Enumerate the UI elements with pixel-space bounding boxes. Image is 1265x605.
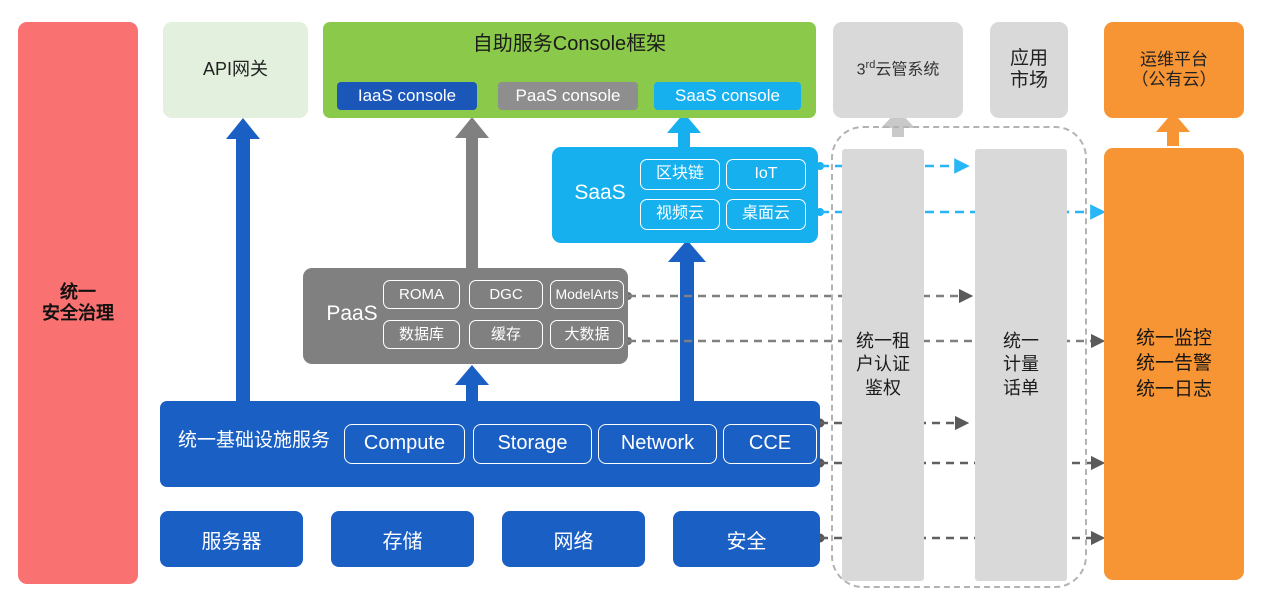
paas-console-label: PaaS console [516,86,621,106]
infra-chip-network-label: Network [621,432,694,456]
hardware-box-storage[interactable]: 存储 [331,511,474,567]
ops-platform-public-cloud-box[interactable]: 运维平台 （公有云） [1104,22,1244,118]
unified-monitoring-alarm-log-label: 统一监控 统一告警 统一日志 [1136,326,1212,401]
arrow-paas-to-console [455,117,489,268]
hardware-box-security[interactable]: 安全 [673,511,820,567]
unified-infrastructure-service-label: 统一基础设施服务 [178,430,330,452]
unified-infrastructure-service-bar[interactable]: 统一基础设施服务 Compute Storage Network CCE [160,401,820,487]
infra-chip-storage-label: Storage [497,432,567,456]
saas-chip-blockchain-label: 区块链 [656,165,704,184]
application-market-label: 应用 市场 [1010,48,1048,93]
paas-chip-modelarts[interactable]: ModelArts [550,280,624,309]
hardware-box-network-label: 网络 [554,525,594,554]
paas-console-chip[interactable]: PaaS console [498,82,638,110]
unified-security-governance-panel[interactable]: 统一 安全治理 [18,22,138,584]
infra-chip-compute[interactable]: Compute [344,424,465,464]
api-gateway-box[interactable]: API网关 [163,22,308,118]
iaas-console-chip[interactable]: IaaS console [337,82,477,110]
paas-chip-cache[interactable]: 缓存 [469,320,543,349]
saas-console-chip[interactable]: SaaS console [654,82,801,110]
self-service-console-framework[interactable]: 自助服务Console框架 IaaS console PaaS console … [323,22,816,118]
infra-chip-compute-label: Compute [364,432,445,456]
paas-chip-database-label: 数据库 [399,326,444,344]
third-party-suffix: 云管系统 [875,62,939,79]
application-market-box[interactable]: 应用 市场 [990,22,1068,118]
infra-chip-storage[interactable]: Storage [473,424,592,464]
saas-console-label: SaaS console [675,86,780,106]
hardware-box-network[interactable]: 网络 [502,511,645,567]
saas-layer-label: SaaS [564,181,636,206]
iaas-console-label: IaaS console [358,86,456,106]
paas-chip-roma-label: ROMA [399,286,444,304]
paas-chip-roma[interactable]: ROMA [383,280,460,309]
saas-chip-desktop-cloud[interactable]: 桌面云 [726,199,806,230]
paas-chip-dgc-label: DGC [489,286,522,304]
infra-chip-cce[interactable]: CCE [723,424,817,464]
third-party-superscript: rd [866,59,876,71]
third-party-prefix: 3 [857,62,866,79]
saas-chip-desktop-cloud-label: 桌面云 [742,205,790,224]
saas-layer-block[interactable]: SaaS 区块链 IoT 视频云 桌面云 [552,147,818,243]
hardware-box-server-label: 服务器 [202,525,262,554]
arrow-infra-to-paas [455,365,489,401]
saas-chip-video-cloud-label: 视频云 [656,205,704,224]
paas-layer-label: PaaS [315,302,389,327]
saas-chip-iot[interactable]: IoT [726,159,806,190]
saas-chip-video-cloud[interactable]: 视频云 [640,199,720,230]
hardware-box-storage-label: 存储 [383,525,423,554]
unified-metering-billing-label: 统一 计量 话单 [1003,330,1039,400]
ops-platform-public-cloud-label: 运维平台 （公有云） [1132,50,1217,90]
infra-chip-cce-label: CCE [749,432,791,456]
architecture-diagram-canvas: 统一 安全治理 API网关 自助服务Console框架 IaaS console… [0,0,1265,605]
unified-tenant-auth-label: 统一租 户认证 鉴权 [856,330,910,400]
paas-chip-cache-label: 缓存 [491,326,521,344]
paas-chip-big-data[interactable]: 大数据 [550,320,624,349]
unified-monitoring-alarm-log-column[interactable]: 统一监控 统一告警 统一日志 [1104,148,1244,580]
infra-chip-network[interactable]: Network [598,424,717,464]
paas-chip-modelarts-label: ModelArts [555,286,618,303]
console-framework-title: 自助服务Console框架 [323,33,816,57]
arrow-infra-to-api-gateway [226,118,260,401]
unified-metering-billing-column[interactable]: 统一 计量 话单 [975,149,1067,581]
saas-chip-blockchain[interactable]: 区块链 [640,159,720,190]
arrow-infra-to-saas [668,240,706,401]
unified-tenant-auth-column[interactable]: 统一租 户认证 鉴权 [842,149,924,581]
hardware-box-server[interactable]: 服务器 [160,511,303,567]
paas-layer-block[interactable]: PaaS ROMA DGC ModelArts 数据库 缓存 大数据 [303,268,628,364]
hardware-box-security-label: 安全 [727,525,767,554]
api-gateway-label: API网关 [203,59,268,80]
paas-chip-big-data-label: 大数据 [564,326,609,344]
unified-security-governance-label: 统一 安全治理 [42,282,114,324]
paas-chip-dgc[interactable]: DGC [469,280,543,309]
arrow-saas-to-console [667,113,701,148]
paas-chip-database[interactable]: 数据库 [383,320,460,349]
third-party-cloud-management-box[interactable]: 3rd云管系统 [833,22,963,118]
third-party-cloud-management-label: 3rd云管系统 [857,59,940,80]
saas-chip-iot-label: IoT [754,165,777,184]
